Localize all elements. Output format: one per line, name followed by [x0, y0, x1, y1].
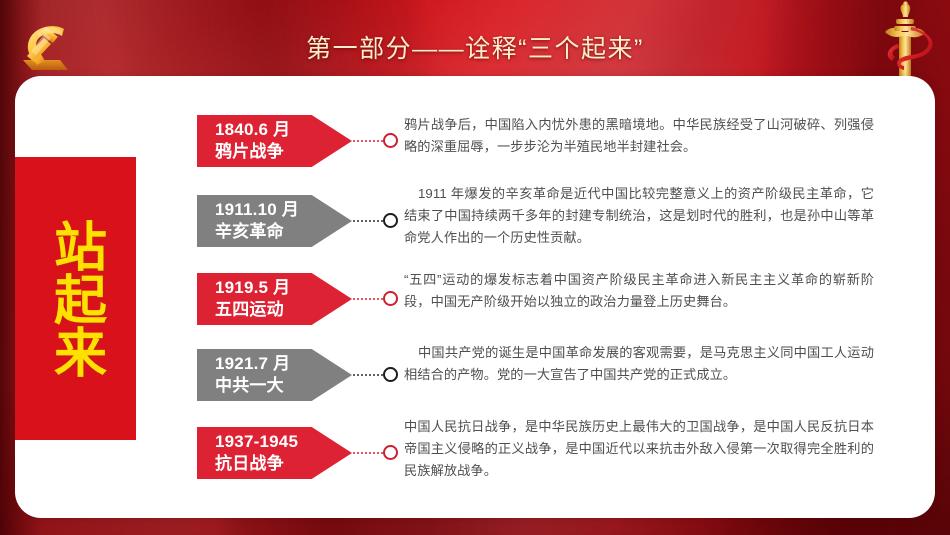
- timeline-description: 中国人民抗日战争，是中华民族历史上最伟大的卫国战争，是中国人民反抗日本帝国主义侵…: [404, 416, 874, 482]
- slide-canvas: 第一部分——诠释“三个起来” 站起来 1840.6 月 鸦片战争 鸦片战争后，中…: [0, 0, 950, 535]
- timeline-connector: [352, 220, 386, 222]
- timeline-tag[interactable]: 1921.7 月 中共一大: [197, 349, 352, 401]
- timeline-connector: [352, 298, 386, 300]
- timeline-tag[interactable]: 1937-1945 抗日战争: [197, 427, 352, 479]
- timeline-description: “五四”运动的爆发标志着中国资产阶级民主革命进入新民主主义革命的崭新阶段，中国无…: [404, 269, 874, 313]
- timeline-description: 鸦片战争后，中国陷入内忧外患的黑暗境地。中华民族经受了山河破碎、列强侵略的深重屈…: [404, 114, 874, 158]
- timeline-date: 1921.7 月: [215, 353, 290, 375]
- timeline-list: 1840.6 月 鸦片战争 鸦片战争后，中国陷入内忧外患的黑暗境地。中华民族经受…: [0, 76, 950, 518]
- timeline-date: 1911.10 月: [215, 199, 299, 221]
- timeline-event-name: 抗日战争: [215, 453, 284, 475]
- timeline-event-name: 辛亥革命: [215, 221, 284, 243]
- timeline-description: 1911 年爆发的辛亥革命是近代中国比较完整意义上的资产阶级民主革命，它结束了中…: [404, 183, 874, 249]
- timeline-date: 1919.5 月: [215, 277, 290, 299]
- hollow-circle-icon: [383, 445, 398, 460]
- timeline-tag[interactable]: 1911.10 月 辛亥革命: [197, 195, 352, 247]
- timeline-description: 中国共产党的诞生是中国革命发展的客观需要，是马克思主义同中国工人运动相结合的产物…: [404, 342, 874, 386]
- timeline-date: 1937-1945: [215, 431, 298, 453]
- timeline-connector: [352, 140, 386, 142]
- timeline-event-name: 五四运动: [215, 299, 284, 321]
- timeline-date: 1840.6 月: [215, 119, 290, 141]
- hollow-circle-icon: [383, 213, 398, 228]
- timeline-tag[interactable]: 1919.5 月 五四运动: [197, 273, 352, 325]
- hollow-circle-icon: [383, 133, 398, 148]
- page-title: 第一部分——诠释“三个起来”: [0, 34, 950, 64]
- timeline-connector: [352, 452, 386, 454]
- timeline-tag[interactable]: 1840.6 月 鸦片战争: [197, 115, 352, 167]
- hollow-circle-icon: [383, 367, 398, 382]
- timeline-event-name: 中共一大: [215, 375, 284, 397]
- timeline-connector: [352, 374, 386, 376]
- timeline-event-name: 鸦片战争: [215, 141, 284, 163]
- hollow-circle-icon: [383, 291, 398, 306]
